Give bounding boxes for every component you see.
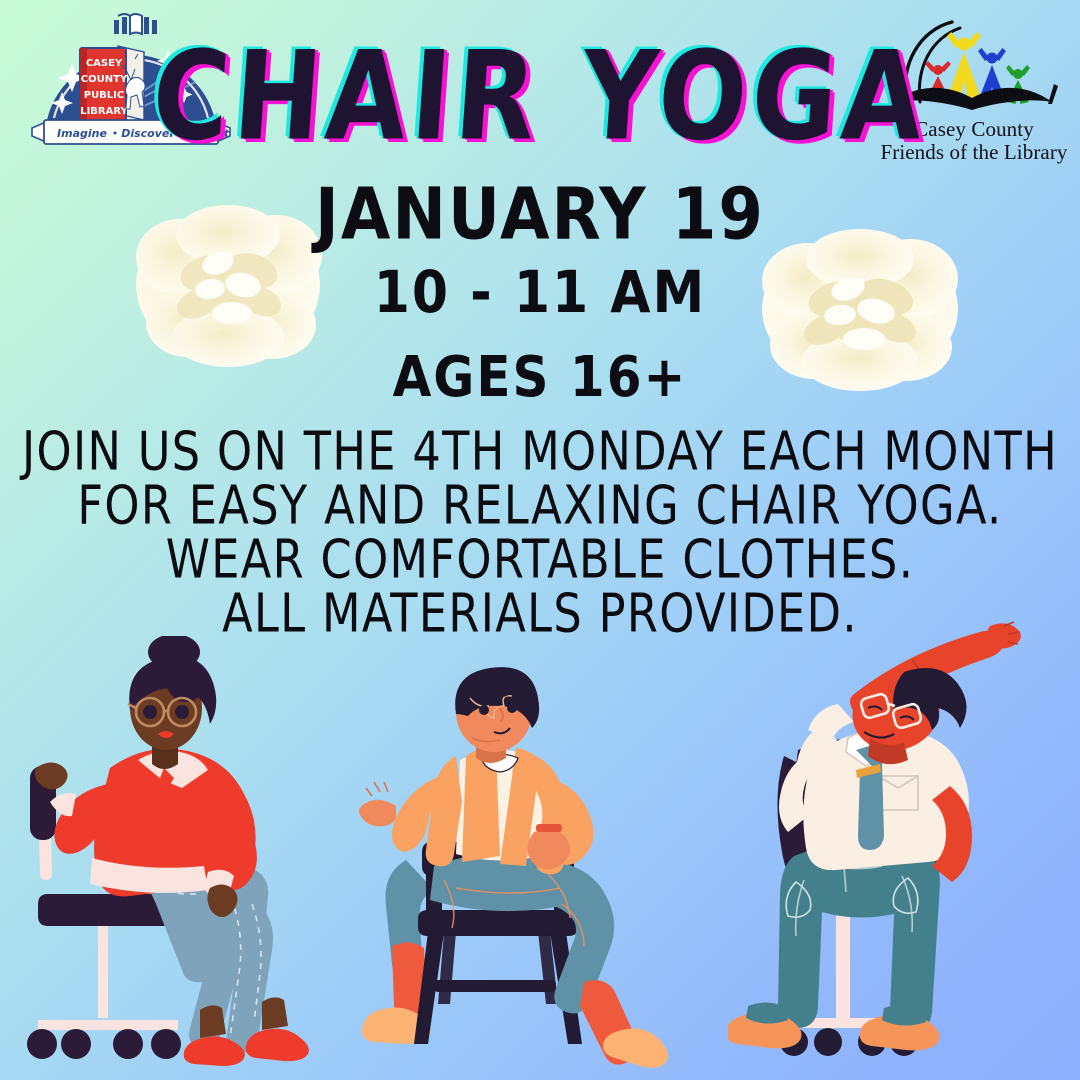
illustration-man-side-stretch-office-chair — [728, 604, 1080, 1080]
event-date: JANUARY 19 — [0, 179, 1080, 251]
book-crown-icon — [114, 14, 157, 34]
page-title-wrapper: CHAIR YOGA — [0, 44, 1080, 148]
event-age-requirement: AGES 16+ — [0, 349, 1080, 405]
illustration-woman-seated-office-chair — [14, 636, 344, 1080]
wristwatch-icon — [536, 824, 562, 832]
page-title: CHAIR YOGA — [148, 35, 931, 158]
poster-canvas: CASEY COUNTY PUBLIC LIBRARY Imagine • Di… — [0, 0, 1080, 1080]
event-time: 10 - 11 AM — [0, 264, 1080, 322]
illustration-man-straddling-chair — [348, 664, 700, 1080]
